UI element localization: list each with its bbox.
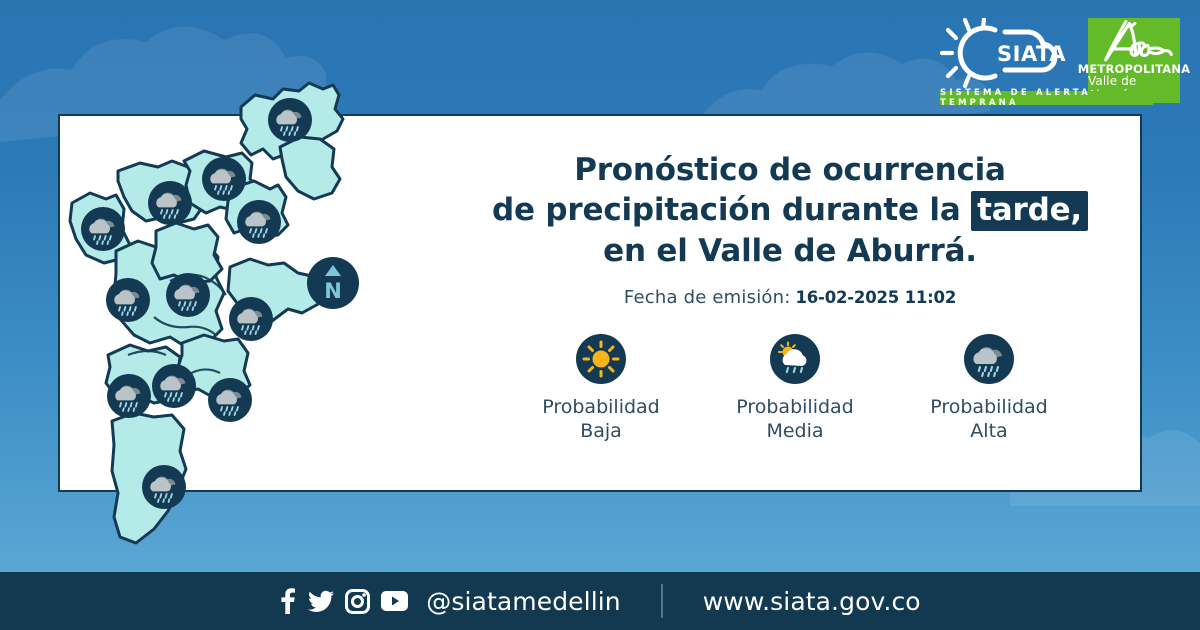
rain-cloud-icon xyxy=(964,334,1014,384)
siata-wordmark: SIATA xyxy=(997,42,1066,66)
legend-item-media: Probabilidad Media xyxy=(710,334,880,444)
legend-label-baja: Probabilidad Baja xyxy=(542,395,660,444)
legend-media-line1: Probabilidad xyxy=(736,396,854,418)
legend-item-baja: Probabilidad Baja xyxy=(516,334,686,444)
map-marker-copacabana xyxy=(237,200,281,244)
siata-logo-icon: SIATA xyxy=(940,18,1072,88)
early-warning-strip: SISTEMA DE ALERTA TEMPRANA xyxy=(940,91,1153,105)
map-marker-caldas xyxy=(142,465,186,509)
map-marker-bello xyxy=(166,273,210,317)
social-icons xyxy=(279,588,408,614)
map-marker-medellin-este xyxy=(229,297,273,341)
footer-bar: @siatamedellin www.siata.gov.co xyxy=(0,572,1200,630)
sun-icon xyxy=(576,334,626,384)
legend-baja-line1: Probabilidad xyxy=(542,396,660,418)
legend-label-media: Probabilidad Media xyxy=(736,395,854,444)
instagram-icon[interactable] xyxy=(345,589,370,614)
valle-de-aburra-map: N xyxy=(58,55,388,570)
early-warning-text: SISTEMA DE ALERTA TEMPRANA xyxy=(940,88,1153,108)
map-marker-layer xyxy=(58,55,388,570)
footer-divider xyxy=(661,584,663,618)
title-line-3: en el Valle de Aburrá. xyxy=(470,231,1110,271)
map-marker-envigado xyxy=(208,378,252,422)
map-marker-medellin-norte xyxy=(106,278,150,322)
title-line-2: de precipitación durante la tarde, xyxy=(470,190,1110,230)
map-marker-itagui xyxy=(152,364,196,408)
emission-label: Fecha de emisión: xyxy=(624,287,791,308)
legend-baja-line2: Baja xyxy=(580,420,622,442)
map-marker-san-jeronimo xyxy=(81,207,125,251)
sun-rain-cloud-icon xyxy=(770,334,820,384)
logo-group: SIATA METROPOLITANA Valle de Aburrá SIST xyxy=(940,18,1180,110)
title-line-1: Pronóstico de ocurrencia xyxy=(470,150,1110,190)
forecast-content: Pronóstico de ocurrencia de precipitació… xyxy=(470,150,1110,444)
legend-alta-line1: Probabilidad xyxy=(930,396,1048,418)
title-highlight-tarde: tarde, xyxy=(971,191,1088,231)
title-line-2-pre: de precipitación durante la xyxy=(492,192,971,228)
map-marker-girardota xyxy=(202,157,246,201)
map-marker-don-matias xyxy=(148,181,192,225)
page-title: Pronóstico de ocurrencia de precipitació… xyxy=(470,150,1110,271)
emission-date: Fecha de emisión:16-02-2025 11:02 xyxy=(470,287,1110,308)
twitter-icon[interactable] xyxy=(308,588,334,614)
map-marker-barbosa xyxy=(268,98,312,142)
emission-value: 16-02-2025 11:02 xyxy=(796,288,957,307)
legend-label-alta: Probabilidad Alta xyxy=(930,395,1048,444)
facebook-icon[interactable] xyxy=(279,588,297,614)
infographic-canvas: SIATA METROPOLITANA Valle de Aburrá SIST xyxy=(0,0,1200,630)
youtube-icon[interactable] xyxy=(381,591,408,611)
legend-item-alta: Probabilidad Alta xyxy=(904,334,1074,444)
website-url[interactable]: www.siata.gov.co xyxy=(703,587,921,616)
social-handle[interactable]: @siatamedellin xyxy=(426,587,620,616)
legend-media-line2: Media xyxy=(766,420,823,442)
probability-legend: Probabilidad Baja xyxy=(470,334,1110,444)
map-marker-sabaneta xyxy=(107,374,151,418)
legend-alta-line2: Alta xyxy=(970,420,1007,442)
area-script-icon xyxy=(1091,18,1177,65)
